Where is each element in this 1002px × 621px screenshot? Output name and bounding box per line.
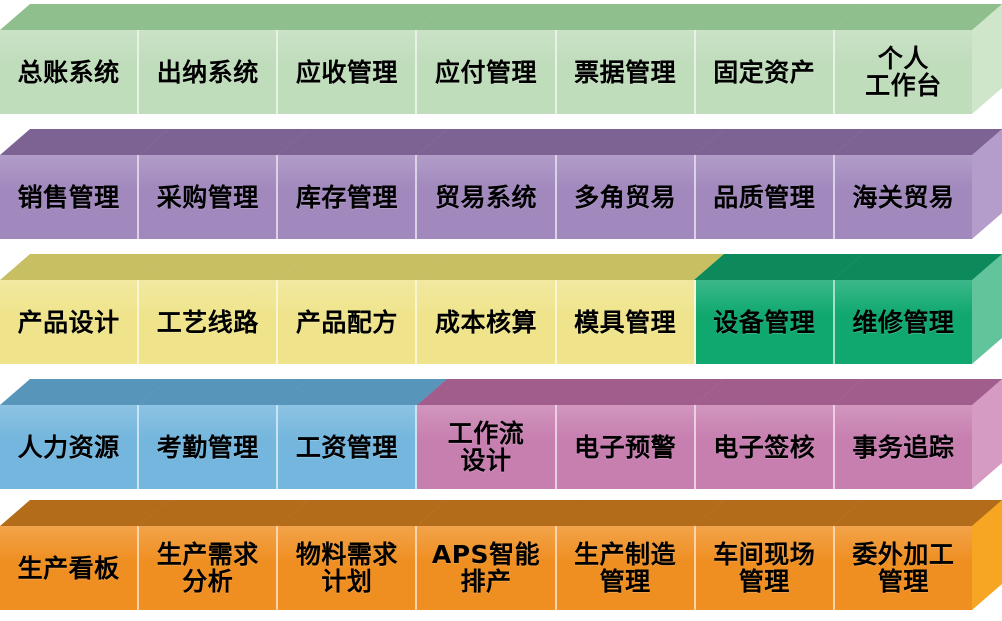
row-stage: 产品设计工艺线路产品配方成本核算模具管理设备管理维修管理: [0, 254, 1002, 364]
module-tile-label: 产品设计: [16, 309, 122, 336]
module-tile[interactable]: 产品配方: [278, 280, 417, 364]
module-tile-label: 出纳系统: [155, 59, 261, 86]
module-tile-label: 总账系统: [16, 59, 122, 86]
row-front-face: 产品设计工艺线路产品配方成本核算模具管理设备管理维修管理: [0, 280, 972, 364]
module-row-engineering: 产品设计工艺线路产品配方成本核算模具管理设备管理维修管理: [0, 254, 1002, 364]
module-tile-label: 事务追踪: [850, 434, 956, 461]
module-tile-label: 工资管理: [294, 434, 400, 461]
module-tile[interactable]: 票据管理: [557, 30, 696, 114]
module-tile-label: 库存管理: [294, 184, 400, 211]
module-tile[interactable]: 生产看板: [0, 526, 139, 610]
module-tile[interactable]: 物料需求 计划: [278, 526, 417, 610]
module-tile[interactable]: 人力资源: [0, 405, 139, 489]
module-tile-label: APS智能 排产: [430, 541, 542, 595]
module-tile-label: 应收管理: [294, 59, 400, 86]
module-tile[interactable]: 海关贸易: [835, 155, 972, 239]
module-tile-label: 生产需求 分析: [155, 541, 261, 595]
module-tile-label: 委外加工 管理: [850, 541, 956, 595]
module-tile-label: 维修管理: [850, 309, 956, 336]
module-tile-label: 设备管理: [711, 309, 817, 336]
module-tile-label: 生产制造 管理: [572, 541, 678, 595]
module-tile-label: 工艺线路: [155, 309, 261, 336]
module-tile[interactable]: 设备管理: [696, 280, 835, 364]
module-tile-label: 人力资源: [16, 434, 122, 461]
module-tile-label: 电子预警: [572, 434, 678, 461]
module-tile[interactable]: 维修管理: [835, 280, 972, 364]
module-tile[interactable]: 工资管理: [278, 405, 417, 489]
module-tile-label: 海关贸易: [850, 184, 956, 211]
row-stage: 生产看板生产需求 分析物料需求 计划APS智能 排产生产制造 管理车间现场 管理…: [0, 500, 1002, 610]
module-tile[interactable]: 个人 工作台: [835, 30, 972, 114]
module-tile-label: 票据管理: [572, 59, 678, 86]
row-front-face: 人力资源考勤管理工资管理工作流 设计电子预警电子签核事务追踪: [0, 405, 972, 489]
module-tile-label: 销售管理: [16, 184, 122, 211]
module-tile[interactable]: 库存管理: [278, 155, 417, 239]
module-tile[interactable]: 应收管理: [278, 30, 417, 114]
row-top-face: [0, 129, 1002, 155]
module-tile[interactable]: 固定资产: [696, 30, 835, 114]
module-tile[interactable]: 车间现场 管理: [696, 526, 835, 610]
row-top-face: [0, 379, 1002, 405]
module-tile-label: 电子签核: [711, 434, 817, 461]
module-tile-label: 多角贸易: [572, 184, 678, 211]
module-tile[interactable]: 出纳系统: [139, 30, 278, 114]
module-tile[interactable]: 工艺线路: [139, 280, 278, 364]
module-tile[interactable]: 产品设计: [0, 280, 139, 364]
module-row-financial: 总账系统出纳系统应收管理应付管理票据管理固定资产个人 工作台: [0, 4, 1002, 114]
module-tile[interactable]: 考勤管理: [139, 405, 278, 489]
module-tile[interactable]: 应付管理: [417, 30, 556, 114]
module-row-supply-chain: 销售管理采购管理库存管理贸易系统多角贸易品质管理海关贸易: [0, 129, 1002, 239]
module-tile[interactable]: 工作流 设计: [417, 405, 556, 489]
module-tile-label: 车间现场 管理: [711, 541, 817, 595]
module-tile[interactable]: 电子签核: [696, 405, 835, 489]
module-tile[interactable]: 销售管理: [0, 155, 139, 239]
module-tile-label: 成本核算: [433, 309, 539, 336]
module-row-manufacturing: 生产看板生产需求 分析物料需求 计划APS智能 排产生产制造 管理车间现场 管理…: [0, 500, 1002, 610]
module-tile-label: 品质管理: [711, 184, 817, 211]
module-tile[interactable]: 委外加工 管理: [835, 526, 972, 610]
module-tile-label: 个人 工作台: [863, 45, 944, 99]
module-tile-label: 生产看板: [16, 555, 122, 582]
module-tile[interactable]: 采购管理: [139, 155, 278, 239]
row-front-face: 生产看板生产需求 分析物料需求 计划APS智能 排产生产制造 管理车间现场 管理…: [0, 526, 972, 610]
module-tile[interactable]: 多角贸易: [557, 155, 696, 239]
module-tile[interactable]: 模具管理: [557, 280, 696, 364]
module-tile-label: 模具管理: [572, 309, 678, 336]
module-tile-label: 产品配方: [294, 309, 400, 336]
module-tile[interactable]: 生产制造 管理: [557, 526, 696, 610]
module-tile-label: 贸易系统: [433, 184, 539, 211]
module-board: 总账系统出纳系统应收管理应付管理票据管理固定资产个人 工作台销售管理采购管理库存…: [0, 0, 1002, 621]
module-row-hr-workflow: 人力资源考勤管理工资管理工作流 设计电子预警电子签核事务追踪: [0, 379, 1002, 489]
module-tile[interactable]: 贸易系统: [417, 155, 556, 239]
module-tile[interactable]: 品质管理: [696, 155, 835, 239]
module-tile-label: 工作流 设计: [446, 420, 527, 474]
row-top-face: [0, 500, 1002, 526]
module-tile-label: 应付管理: [433, 59, 539, 86]
module-tile[interactable]: 电子预警: [557, 405, 696, 489]
row-stage: 总账系统出纳系统应收管理应付管理票据管理固定资产个人 工作台: [0, 4, 1002, 114]
module-tile-label: 固定资产: [711, 59, 817, 86]
row-front-face: 总账系统出纳系统应收管理应付管理票据管理固定资产个人 工作台: [0, 30, 972, 114]
module-tile-label: 考勤管理: [155, 434, 261, 461]
module-tile-label: 物料需求 计划: [294, 541, 400, 595]
module-tile[interactable]: 总账系统: [0, 30, 139, 114]
row-front-face: 销售管理采购管理库存管理贸易系统多角贸易品质管理海关贸易: [0, 155, 972, 239]
module-tile[interactable]: 生产需求 分析: [139, 526, 278, 610]
module-tile[interactable]: 事务追踪: [835, 405, 972, 489]
row-top-face: [0, 4, 1002, 30]
row-stage: 销售管理采购管理库存管理贸易系统多角贸易品质管理海关贸易: [0, 129, 1002, 239]
row-top-face: [0, 254, 1002, 280]
row-stage: 人力资源考勤管理工资管理工作流 设计电子预警电子签核事务追踪: [0, 379, 1002, 489]
module-tile-label: 采购管理: [155, 184, 261, 211]
module-tile[interactable]: 成本核算: [417, 280, 556, 364]
module-tile[interactable]: APS智能 排产: [417, 526, 556, 610]
